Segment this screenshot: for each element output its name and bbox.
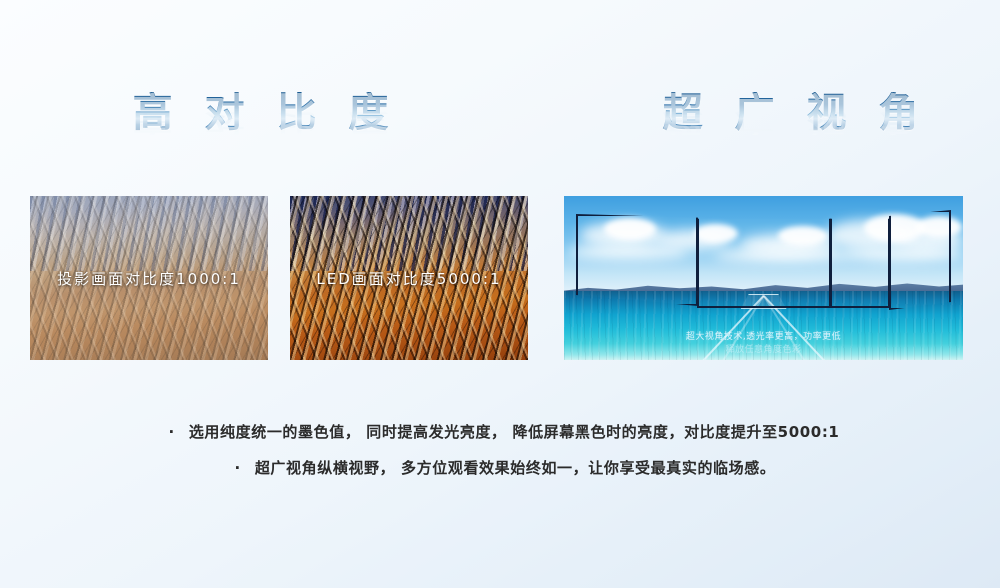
bullet-text: 选用纯度统一的墨色值， 同时提高发光亮度， 降低屏幕黑色时的亮度，对比度提升至5… (189, 420, 840, 444)
bullet-text: 超广视角纵横视野， 多方位观看效果始终如一，让你享受最真实的临场感。 (255, 456, 776, 480)
bullet-marker: · (235, 456, 241, 480)
photo-led-contrast: LED画面对比度5000:1 (290, 196, 528, 360)
bullet-item: · 选用纯度统一的墨色值， 同时提高发光亮度， 降低屏幕黑色时的亮度，对比度提升… (0, 420, 1000, 444)
ocean-scene: 超大视角技术,透光率更高，功率更低 释放任意角度色彩 (564, 196, 963, 360)
screen-pane-1 (576, 214, 698, 306)
section-title-contrast-reflection: 高 对 比 度 (90, 109, 440, 135)
videowall-caption-line1: 超大视角技术,透光率更高，功率更低 (564, 329, 963, 342)
bullet-list: · 选用纯度统一的墨色值， 同时提高发光亮度， 降低屏幕黑色时的亮度，对比度提升… (0, 420, 1000, 480)
photo-projection-contrast: 投影画面对比度1000:1 (30, 196, 268, 360)
photo-led-caption: LED画面对比度5000:1 (290, 268, 528, 289)
videowall-caption-line2: 释放任意角度色彩 (564, 342, 963, 355)
photo-curved-videowall: 超大视角技术,透光率更高，功率更低 释放任意角度色彩 (564, 196, 963, 360)
screen-pane-2 (697, 216, 831, 308)
section-title-viewing-angle-reflection: 超 广 视 角 (620, 109, 970, 135)
section-title-contrast: 高 对 比 度 高 对 比 度 (90, 92, 440, 177)
bullet-item: · 超广视角纵横视野， 多方位观看效果始终如一，让你享受最真实的临场感。 (0, 456, 1000, 480)
screen-pane-4 (889, 210, 951, 310)
photo-projection-caption: 投影画面对比度1000:1 (30, 268, 268, 289)
bullet-marker: · (169, 420, 175, 444)
section-title-viewing-angle: 超 广 视 角 超 广 视 角 (620, 92, 970, 177)
slide-canvas: 高 对 比 度 高 对 比 度 超 广 视 角 超 广 视 角 投影画面对比度1… (0, 0, 1000, 588)
screen-pane-3 (830, 216, 890, 308)
